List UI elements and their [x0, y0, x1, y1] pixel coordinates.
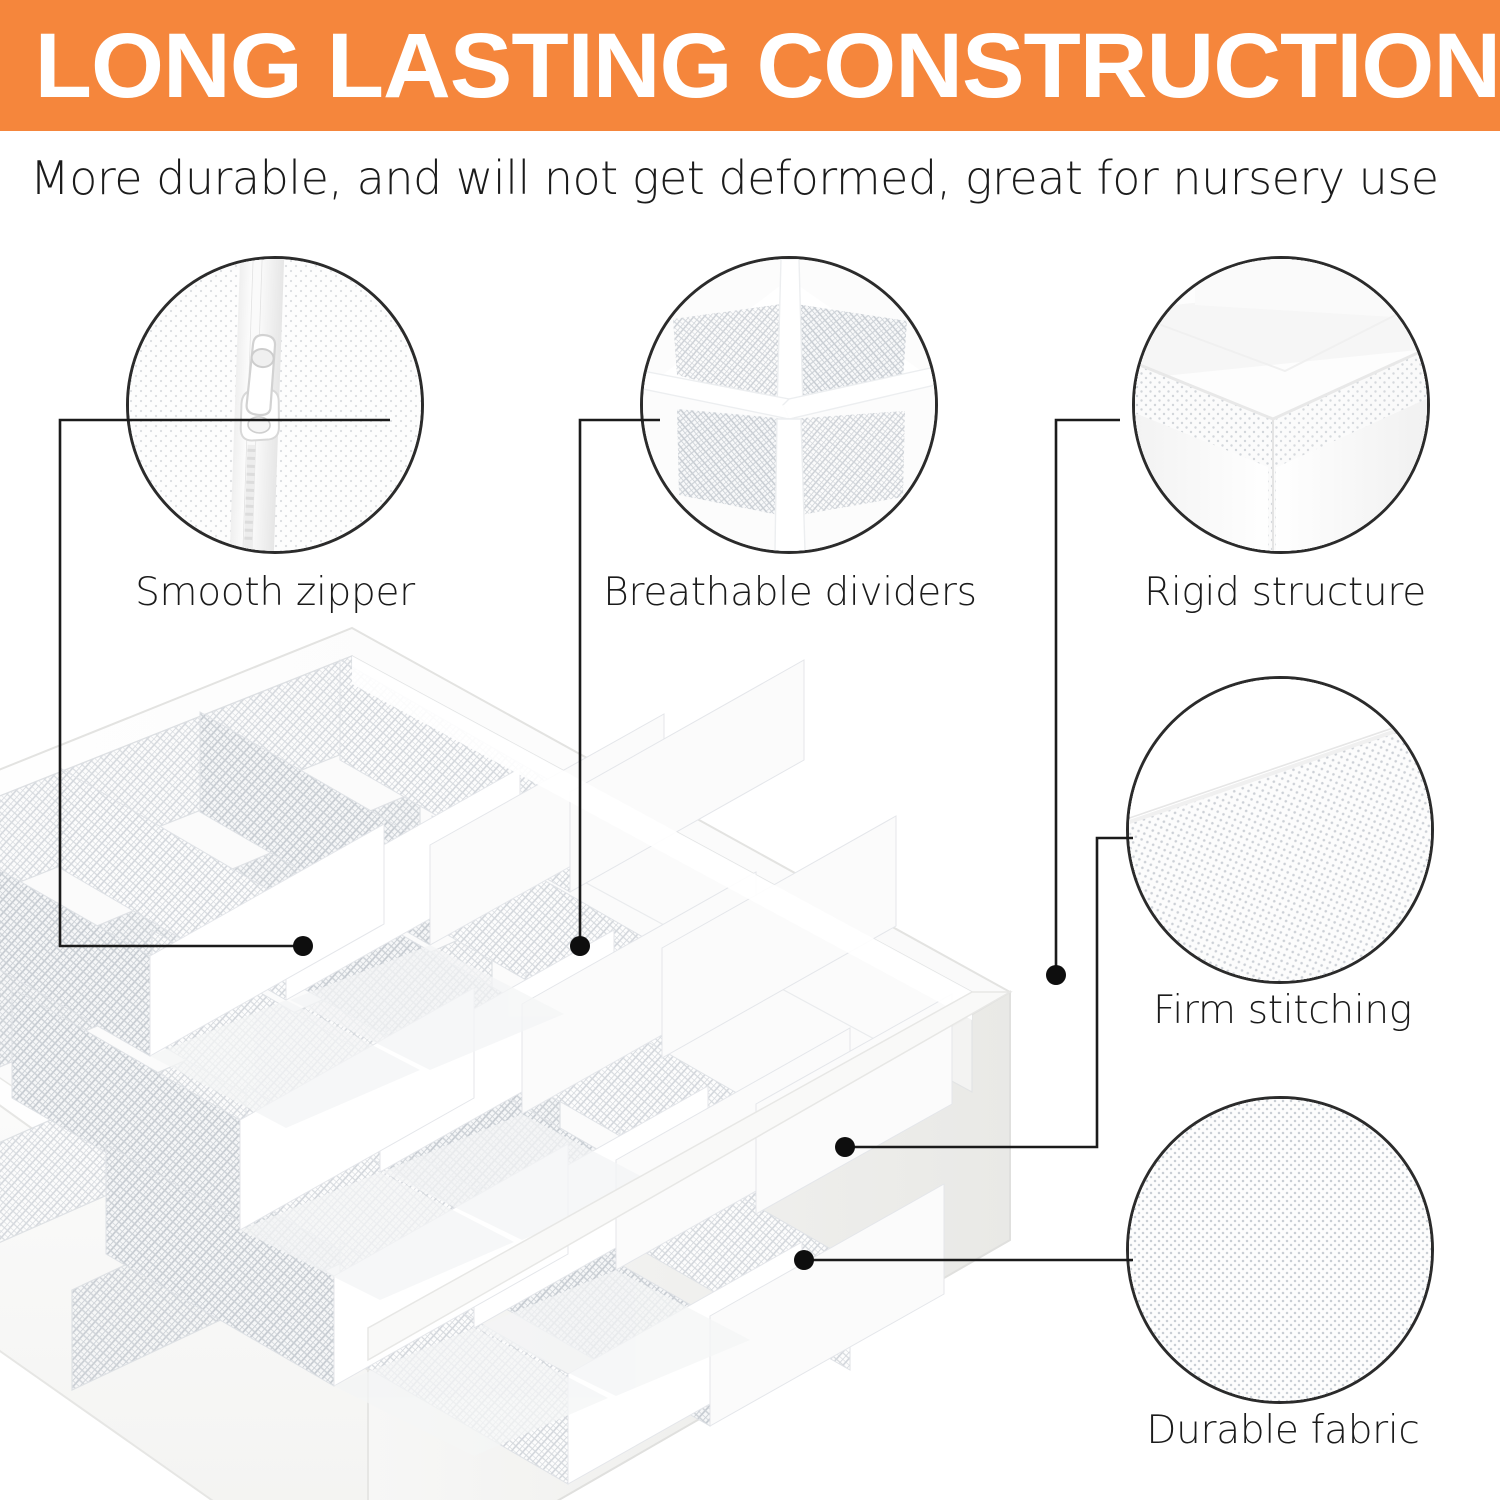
product-feature-infographic: LONG LASTING CONSTRUCTION More durable, …: [0, 0, 1500, 1500]
subtitle-text: More durable, and will not get deformed,…: [30, 150, 1480, 206]
callout-label-rigid-structure: Rigid structure: [1115, 570, 1455, 616]
mesh-divider-illustration: [643, 259, 935, 551]
zipper-illustration: [129, 259, 421, 551]
stitch-seam-illustration: [1129, 679, 1431, 981]
header-banner: LONG LASTING CONSTRUCTION: [0, 0, 1500, 131]
callout-label-smooth-zipper: Smooth zipper: [130, 570, 420, 616]
callout-circle-smooth-zipper: [126, 256, 424, 554]
fabric-weave-illustration: [1129, 1099, 1431, 1401]
corner-structure-illustration: [1135, 259, 1427, 551]
product-image: [0, 600, 1120, 1500]
page-title: LONG LASTING CONSTRUCTION: [0, 20, 1500, 112]
callout-label-firm-stitching: Firm stitching: [1110, 988, 1455, 1034]
callout-label-durable-fabric: Durable fabric: [1108, 1408, 1458, 1454]
callout-circle-firm-stitching: [1126, 676, 1434, 984]
callout-circle-rigid-structure: [1132, 256, 1430, 554]
callout-label-breathable-dividers: Breathable dividers: [585, 570, 995, 616]
callout-circle-durable-fabric: [1126, 1096, 1434, 1404]
callout-circle-breathable-dividers: [640, 256, 938, 554]
